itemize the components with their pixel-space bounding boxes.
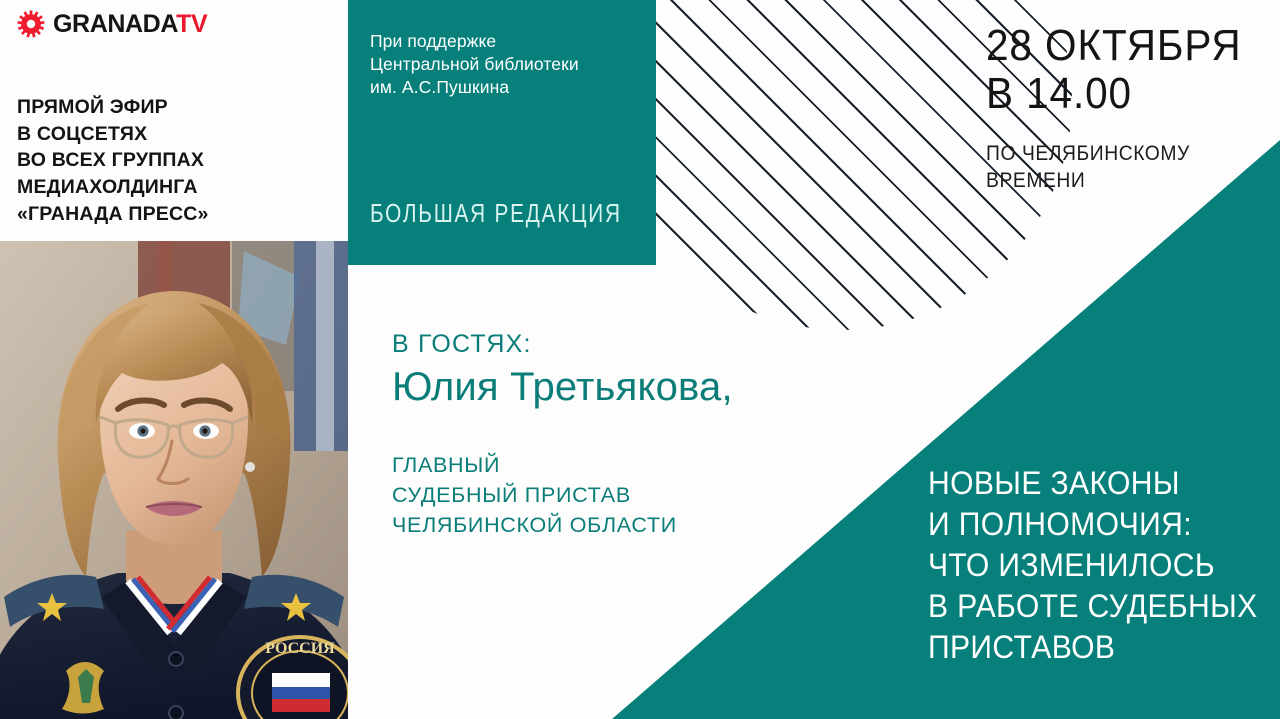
guest-role: ГЛАВНЫЙ СУДЕБНЫЙ ПРИСТАВ ЧЕЛЯБИНСКОЙ ОБЛ… (392, 450, 733, 540)
guest-info-block: В ГОСТЯХ: Юлия Третьякова, ГЛАВНЫЙ СУДЕБ… (392, 330, 733, 540)
live-broadcast-text: ПРЯМОЙ ЭФИР В СОЦСЕТЯХ ВО ВСЕХ ГРУППАХ М… (17, 94, 209, 228)
svg-text:РОССИЯ: РОССИЯ (265, 640, 335, 657)
guest-portrait-photo: РОССИЯ ФССП (0, 241, 348, 719)
broadcast-topic: НОВЫЕ ЗАКОНЫ И ПОЛНОМОЧИЯ: ЧТО ИЗМЕНИЛОС… (928, 463, 1258, 668)
broadcast-date-time: 28 ОКТЯБРЯ В 14.00 (986, 22, 1242, 119)
brand-panel: GRANADATV ПРЯМОЙ ЭФИР В СОЦСЕТЯХ ВО ВСЕХ… (0, 0, 348, 241)
teal-header-block: При поддержке Центральной библиотеки им.… (348, 0, 656, 265)
logo-word-granada: GRANADA (53, 10, 176, 38)
guest-name: Юлия Третьякова, (392, 365, 733, 410)
gear-sun-icon (16, 9, 46, 39)
broadcast-date-block: 28 ОКТЯБРЯ В 14.00 ПО ЧЕЛЯБИНСКОМУ ВРЕМЕ… (986, 22, 1264, 195)
poster-root: При поддержке Центральной библиотеки им.… (0, 0, 1280, 719)
logo[interactable]: GRANADATV (16, 9, 207, 39)
logo-wordmark: GRANADATV (53, 12, 207, 37)
support-credit-text: При поддержке Центральной библиотеки им.… (370, 30, 579, 98)
program-title: БОЛЬШАЯ РЕДАКЦИЯ (370, 198, 622, 229)
guest-label: В ГОСТЯХ: (392, 330, 733, 359)
broadcast-timezone: ПО ЧЕЛЯБИНСКОМУ ВРЕМЕНИ (986, 141, 1242, 195)
logo-word-tv: TV (176, 10, 207, 38)
portrait-illustration: РОССИЯ ФССП (0, 241, 348, 719)
